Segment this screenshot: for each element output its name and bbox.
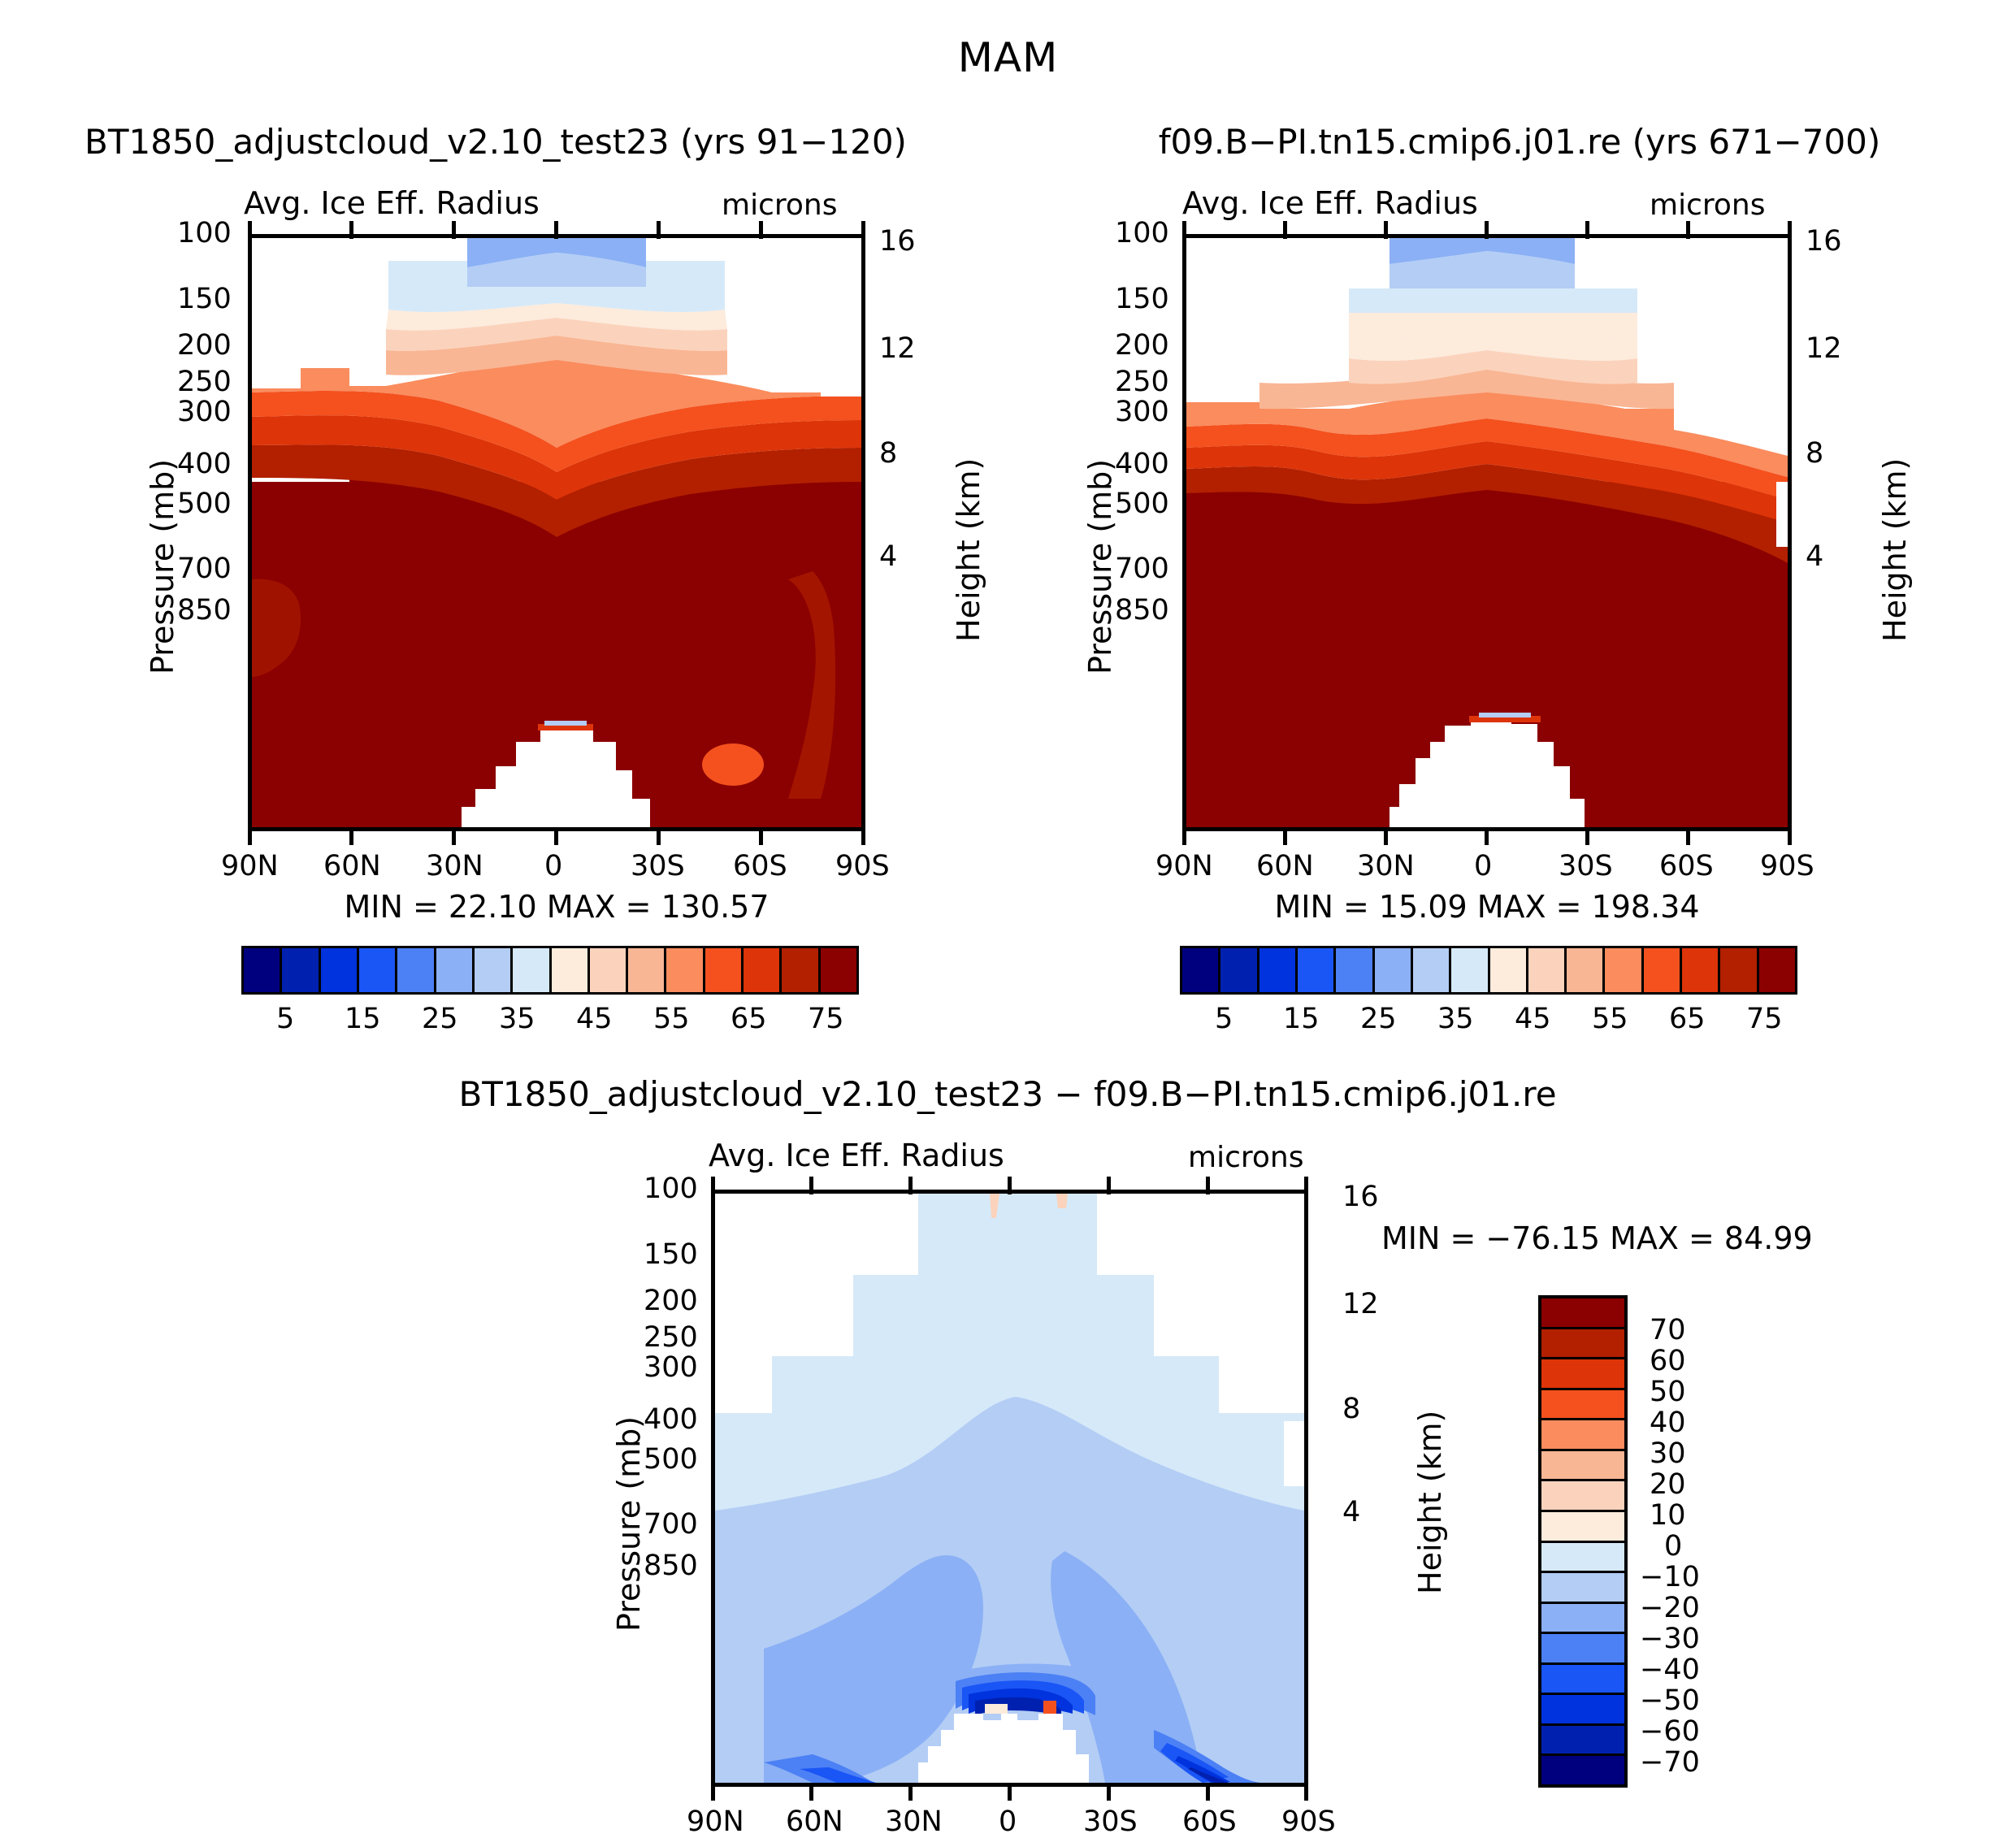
right-height-axis-label: Height (km): [1877, 458, 1913, 642]
diff-cbtick-0: 0: [1664, 1530, 1682, 1563]
left-xtick-90N: 90N: [221, 850, 279, 882]
right-colorbar-cell-9: [1528, 948, 1567, 992]
left-colorbar-cell-4: [397, 948, 436, 992]
diff-cbtick-30: 30: [1650, 1437, 1686, 1470]
right-colorbar-cell-4: [1336, 948, 1374, 992]
left-colorbar-cell-6: [475, 948, 513, 992]
diff-height-axis-label: Height (km): [1412, 1411, 1448, 1594]
right-cbtick-65: 65: [1669, 1003, 1706, 1035]
diff-colorbar-cell-2: [1541, 1359, 1624, 1390]
left-contour-plot: [252, 238, 861, 827]
diff-colorbar-cell-13: [1541, 1695, 1624, 1726]
right-plot-area[interactable]: [1182, 234, 1792, 831]
diff-cbtick-m40: −40: [1640, 1654, 1700, 1686]
diff-colorbar-cell-1: [1541, 1329, 1624, 1360]
right-colorbar-cell-15: [1759, 948, 1795, 992]
diff-plot-area[interactable]: [711, 1190, 1308, 1787]
diff-colorbar-cell-12: [1541, 1665, 1624, 1696]
left-ytick-700: 700: [177, 553, 232, 585]
right-cbtick-35: 35: [1437, 1003, 1474, 1035]
left-ytick-300: 300: [177, 396, 232, 428]
right-pressure-axis-label: Pressure (mb): [1082, 459, 1118, 674]
right-colorbar-cell-14: [1720, 948, 1758, 992]
diff-xtick-30N: 30N: [885, 1805, 943, 1838]
left-colorbar-cell-15: [821, 948, 856, 992]
diff-panel-title: BT1850_adjustcloud_v2.10_test23 − f09.B−…: [309, 1074, 1706, 1114]
left-colorbar-cell-7: [513, 948, 551, 992]
right-colorbar-cell-12: [1644, 948, 1682, 992]
diff-cbtick-50: 50: [1650, 1376, 1686, 1408]
left-colorbar-cell-2: [321, 948, 359, 992]
right-xtick-90S: 90S: [1760, 850, 1814, 882]
left-ytick-400: 400: [177, 448, 232, 480]
diff-cbtick-m10: −10: [1640, 1561, 1700, 1593]
left-panel-title: BT1850_adjustcloud_v2.10_test23 (yrs 91−…: [33, 122, 959, 162]
diff-ytick-150: 150: [644, 1238, 698, 1271]
right-cbtick-15: 15: [1283, 1003, 1320, 1035]
right-ytick-700: 700: [1115, 553, 1169, 585]
diff-units-label: microns: [1188, 1141, 1303, 1174]
diff-cbtick-40: 40: [1650, 1407, 1686, 1439]
right-ytick-300: 300: [1115, 396, 1169, 428]
diff-cbtick-m70: −70: [1640, 1746, 1700, 1779]
left-colorbar[interactable]: [241, 946, 859, 995]
right-xtick-90N: 90N: [1155, 850, 1213, 882]
right-colorbar-cell-6: [1413, 948, 1451, 992]
right-xtick-30N: 30N: [1357, 850, 1415, 882]
diff-cbtick-m60: −60: [1640, 1715, 1700, 1748]
diff-colorbar-cell-0: [1541, 1298, 1624, 1329]
right-ytick-150: 150: [1115, 283, 1169, 315]
diff-cbtick-60: 60: [1650, 1345, 1686, 1377]
diff-colorbar-cell-8: [1541, 1543, 1624, 1574]
left-xtick-60N: 60N: [323, 850, 381, 882]
right-variable-title: Avg. Ice Eff. Radius: [1182, 185, 1478, 221]
left-ytick-500: 500: [177, 488, 232, 520]
diff-colorbar-cell-14: [1541, 1726, 1624, 1757]
right-xtick-60S: 60S: [1659, 850, 1714, 882]
diff-colorbar-cell-5: [1541, 1451, 1624, 1482]
left-ytick-250: 250: [177, 366, 232, 398]
left-cbtick-25: 25: [422, 1003, 458, 1035]
left-cbtick-55: 55: [653, 1003, 690, 1035]
diff-colorbar-cell-15: [1541, 1756, 1624, 1784]
left-colorbar-cell-14: [782, 948, 820, 992]
left-y2tick-4: 4: [879, 540, 897, 573]
diff-y2tick-4: 4: [1342, 1496, 1360, 1528]
left-colorbar-cell-10: [628, 948, 666, 992]
left-colorbar-cell-3: [359, 948, 397, 992]
right-colorbar-cell-5: [1375, 948, 1413, 992]
right-colorbar-cell-8: [1490, 948, 1528, 992]
right-ytick-250: 250: [1115, 366, 1169, 398]
left-colorbar-cell-9: [590, 948, 628, 992]
left-cbtick-75: 75: [808, 1003, 844, 1035]
left-y2tick-8: 8: [879, 437, 897, 470]
diff-colorbar[interactable]: [1538, 1295, 1628, 1788]
left-ytick-100: 100: [177, 217, 232, 249]
diff-ytick-300: 300: [644, 1351, 698, 1384]
left-cbtick-65: 65: [731, 1003, 767, 1035]
diff-colorbar-cell-6: [1541, 1481, 1624, 1512]
right-colorbar-cell-7: [1451, 948, 1489, 992]
right-minmax-text: MIN = 15.09 MAX = 198.34: [1182, 889, 1792, 925]
diff-ytick-200: 200: [644, 1285, 698, 1317]
left-cbtick-45: 45: [576, 1003, 613, 1035]
left-ytick-200: 200: [177, 329, 232, 362]
left-xtick-60S: 60S: [733, 850, 787, 882]
diff-colorbar-cell-3: [1541, 1390, 1624, 1421]
diff-ytick-500: 500: [644, 1443, 698, 1476]
diff-ytick-100: 100: [644, 1173, 698, 1205]
diff-cbtick-10: 10: [1650, 1499, 1686, 1532]
left-colorbar-cell-0: [244, 948, 282, 992]
right-cbtick-75: 75: [1746, 1003, 1783, 1035]
right-ytick-500: 500: [1115, 488, 1169, 520]
diff-y2tick-12: 12: [1342, 1288, 1379, 1320]
left-ytick-850: 850: [177, 594, 232, 626]
diff-xtick-90N: 90N: [687, 1805, 744, 1838]
diff-cbtick-70: 70: [1650, 1314, 1686, 1346]
diff-ytick-700: 700: [644, 1508, 698, 1541]
left-colorbar-cell-12: [705, 948, 744, 992]
right-colorbar-cell-2: [1259, 948, 1298, 992]
diff-y2tick-8: 8: [1342, 1393, 1360, 1425]
right-y2tick-16: 16: [1806, 225, 1842, 258]
diff-xtick-60S: 60S: [1182, 1805, 1237, 1838]
left-variable-title: Avg. Ice Eff. Radius: [244, 185, 540, 221]
diff-xtick-60N: 60N: [786, 1805, 843, 1838]
right-colorbar-cell-11: [1605, 948, 1643, 992]
diff-minmax-text: MIN = −76.15 MAX = 84.99: [1381, 1220, 1813, 1256]
left-pressure-axis-label: Pressure (mb): [145, 459, 180, 674]
diff-cbtick-m30: −30: [1640, 1623, 1700, 1655]
left-colorbar-cell-11: [666, 948, 705, 992]
left-cbtick-15: 15: [345, 1003, 381, 1035]
left-colorbar-cell-13: [744, 948, 782, 992]
diff-colorbar-cell-9: [1541, 1573, 1624, 1604]
left-xtick-0: 0: [544, 850, 562, 882]
diff-colorbar-cell-7: [1541, 1512, 1624, 1543]
left-y2tick-16: 16: [879, 225, 916, 258]
diff-xtick-30S: 30S: [1083, 1805, 1138, 1838]
right-cbtick-55: 55: [1592, 1003, 1628, 1035]
right-y2tick-8: 8: [1806, 437, 1823, 470]
left-colorbar-cell-1: [282, 948, 320, 992]
right-ytick-200: 200: [1115, 329, 1169, 362]
diff-cbtick-20: 20: [1650, 1468, 1686, 1501]
right-contour-plot: [1186, 238, 1788, 827]
diff-pressure-axis-label: Pressure (mb): [611, 1416, 647, 1632]
diff-ytick-250: 250: [644, 1321, 698, 1354]
right-cbtick-25: 25: [1360, 1003, 1397, 1035]
right-y2tick-4: 4: [1806, 540, 1823, 573]
right-colorbar-cell-3: [1298, 948, 1336, 992]
left-y2tick-12: 12: [879, 332, 916, 365]
right-xtick-60N: 60N: [1256, 850, 1314, 882]
right-panel-title: f09.B−PI.tn15.cmip6.j01.re (yrs 671−700): [1048, 122, 1991, 162]
left-colorbar-cell-5: [436, 948, 475, 992]
diff-contour-plot: [715, 1194, 1304, 1783]
diff-variable-title: Avg. Ice Eff. Radius: [709, 1138, 1004, 1173]
right-colorbar-cell-10: [1567, 948, 1605, 992]
left-xtick-30S: 30S: [631, 850, 685, 882]
left-cbtick-35: 35: [499, 1003, 535, 1035]
right-xtick-30S: 30S: [1559, 850, 1613, 882]
right-colorbar-cell-1: [1220, 948, 1259, 992]
diff-colorbar-cell-10: [1541, 1604, 1624, 1635]
left-cbtick-5: 5: [276, 1003, 294, 1035]
diff-cbtick-m50: −50: [1640, 1684, 1700, 1717]
left-minmax-text: MIN = 22.10 MAX = 130.57: [248, 889, 865, 925]
left-colorbar-cell-8: [552, 948, 590, 992]
diff-xtick-90S: 90S: [1281, 1805, 1336, 1838]
diff-colorbar-cell-4: [1541, 1420, 1624, 1451]
right-colorbar[interactable]: [1180, 946, 1797, 995]
right-ytick-100: 100: [1115, 217, 1169, 249]
right-y2tick-12: 12: [1806, 332, 1842, 365]
left-ytick-150: 150: [177, 283, 232, 315]
diff-ytick-400: 400: [644, 1403, 698, 1436]
right-cbtick-5: 5: [1215, 1003, 1233, 1035]
right-units-label: microns: [1650, 189, 1765, 222]
right-ytick-400: 400: [1115, 448, 1169, 480]
left-units-label: microns: [722, 189, 837, 222]
figure-title: MAM: [0, 34, 2016, 81]
left-height-axis-label: Height (km): [951, 458, 986, 642]
right-colorbar-cell-13: [1682, 948, 1720, 992]
right-xtick-0: 0: [1474, 850, 1492, 882]
left-xtick-30N: 30N: [426, 850, 483, 882]
right-colorbar-cell-0: [1182, 948, 1220, 992]
right-ytick-850: 850: [1115, 594, 1169, 626]
left-xtick-90S: 90S: [835, 850, 890, 882]
diff-xtick-0: 0: [999, 1805, 1017, 1838]
diff-y2tick-16: 16: [1342, 1181, 1379, 1213]
left-plot-area[interactable]: [248, 234, 865, 831]
diff-cbtick-m20: −20: [1640, 1592, 1700, 1624]
diff-ytick-850: 850: [644, 1550, 698, 1582]
diff-colorbar-cell-11: [1541, 1634, 1624, 1665]
right-cbtick-45: 45: [1515, 1003, 1551, 1035]
